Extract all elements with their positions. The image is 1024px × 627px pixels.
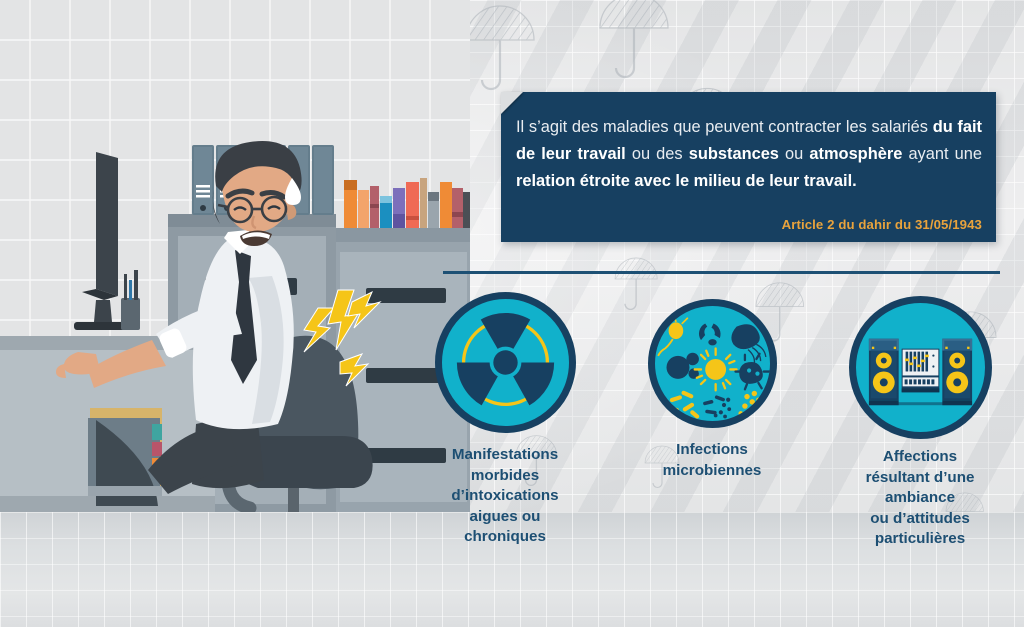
page-fold-corner (501, 92, 523, 114)
infographic-slide: Il s’agit des maladies que peuvent contr… (0, 0, 1024, 627)
sound-system-icon-circle (849, 296, 992, 439)
quote-card: Il s’agit des maladies que peuvent contr… (501, 92, 996, 242)
quote-citation: Article 2 du dahir du 31/05/1943 (782, 217, 982, 232)
category-label-intoxications: Manifestationsmorbidesd’intoxicationsaig… (405, 445, 605, 548)
microbes-icon (655, 313, 770, 428)
category-item-intoxications[interactable]: Manifestationsmorbidesd’intoxicationsaig… (405, 292, 605, 548)
quote-text: Il s’agit des maladies que peuvent contr… (516, 114, 982, 195)
radiation-icon-circle (435, 292, 576, 433)
radiation-icon (442, 299, 569, 426)
category-item-ambiance[interactable]: Affectionsrésultant d’uneambianceou d’at… (820, 292, 1020, 550)
floor-reflection (0, 512, 470, 627)
category-label-ambiance: Affectionsrésultant d’uneambianceou d’at… (820, 447, 1020, 550)
microbes-icon-circle (648, 299, 777, 428)
section-divider (443, 271, 1000, 274)
sound-system-icon (856, 303, 985, 432)
category-label-infections: Infectionsmicrobiennes (612, 440, 812, 481)
category-item-infections[interactable]: Infectionsmicrobiennes (612, 292, 812, 481)
